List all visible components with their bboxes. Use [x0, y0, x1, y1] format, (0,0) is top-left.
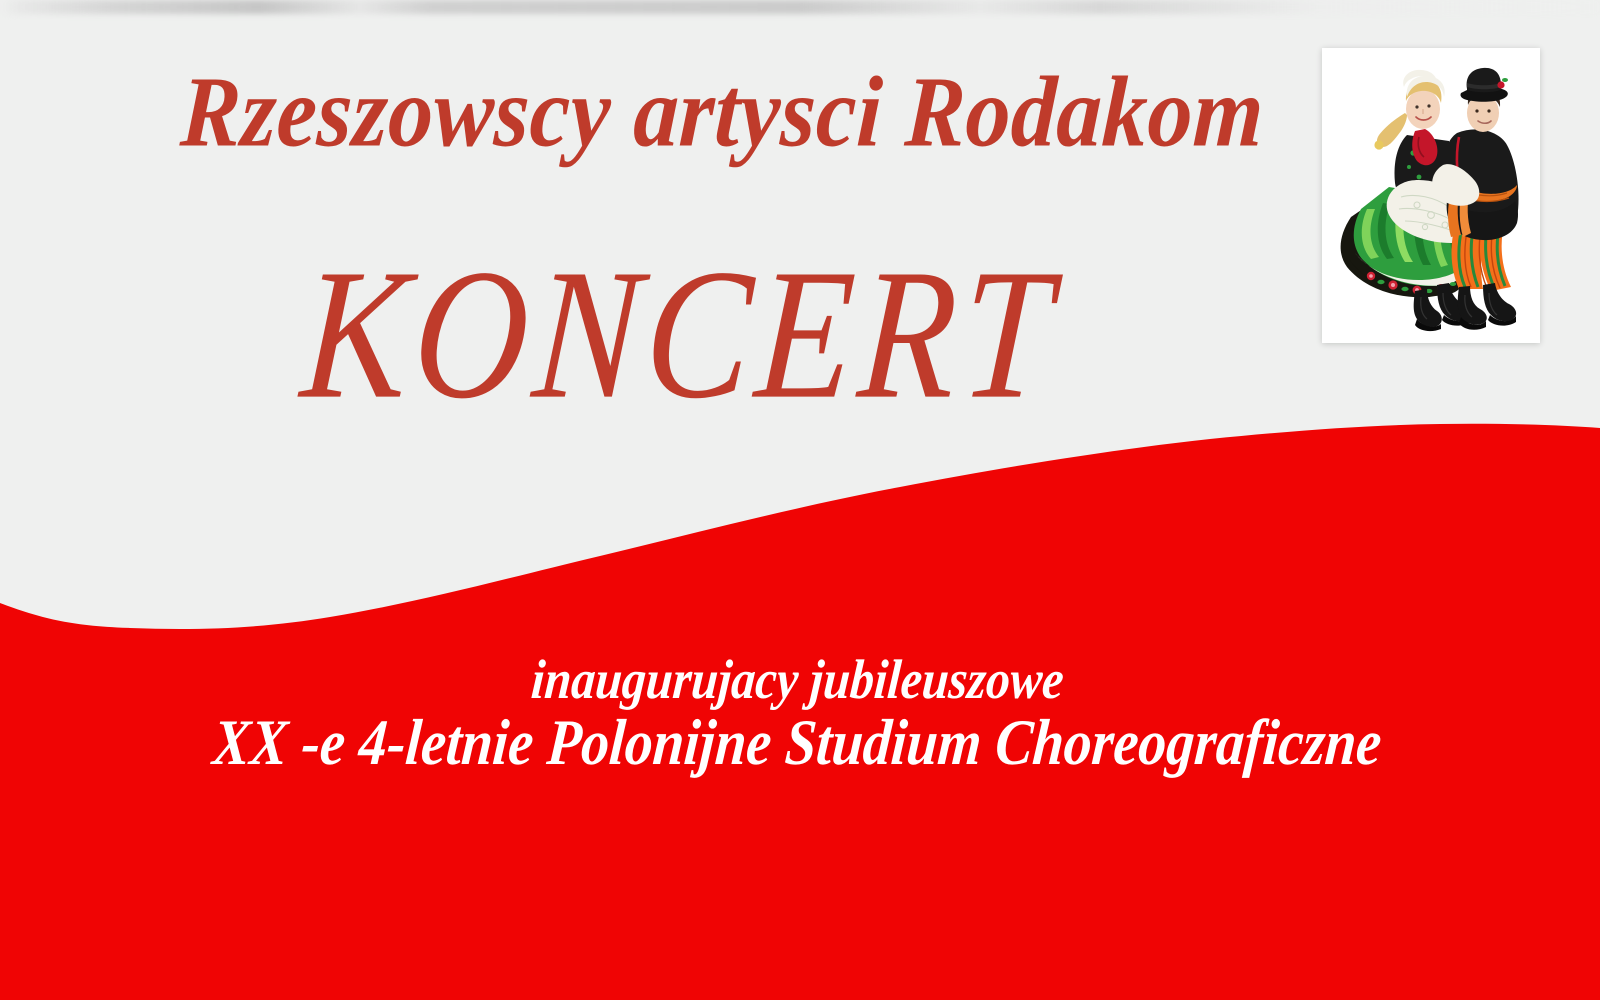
poster-subtitle-line-2: XX -e 4-letnie Polonijne Studium Choreog… [0, 706, 1600, 780]
polish-folk-dance-couple-photo [1331, 57, 1531, 334]
poster-subtitle-line-1: inaugurujacy jubileuszowe [0, 648, 1600, 712]
photo-frame [1322, 48, 1540, 343]
poster-canvas: Rzeszowscy artysci Rodakom KONCERT inaug… [0, 0, 1600, 1000]
